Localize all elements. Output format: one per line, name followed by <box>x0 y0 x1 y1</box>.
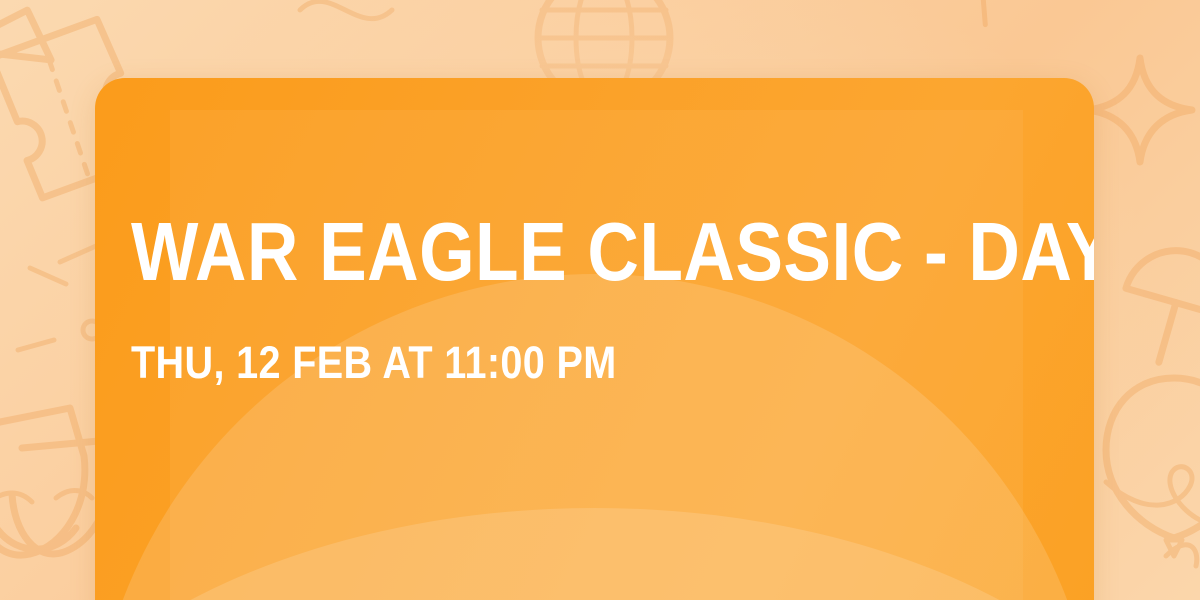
event-banner: WAR EAGLE CLASSIC - DAY 1 THU, 12 FEB AT… <box>0 0 1200 600</box>
card-text-block: WAR EAGLE CLASSIC - DAY 1 THU, 12 FEB AT… <box>131 78 1058 600</box>
event-title: WAR EAGLE CLASSIC - DAY 1 <box>131 210 1094 294</box>
four-point-star-icon <box>1088 58 1192 162</box>
streamer-swirl-icon <box>1106 467 1200 566</box>
party-popper-icon <box>0 0 73 79</box>
balloon-icon <box>1106 378 1200 556</box>
sparkle-line-icon <box>18 246 101 350</box>
event-datetime: THU, 12 FEB AT 11:00 PM <box>131 340 617 386</box>
microphone-icon <box>1109 231 1200 379</box>
event-card[interactable]: WAR EAGLE CLASSIC - DAY 1 THU, 12 FEB AT… <box>95 78 1094 600</box>
confetti-icon <box>300 0 392 19</box>
music-stand-icon <box>945 0 1134 30</box>
